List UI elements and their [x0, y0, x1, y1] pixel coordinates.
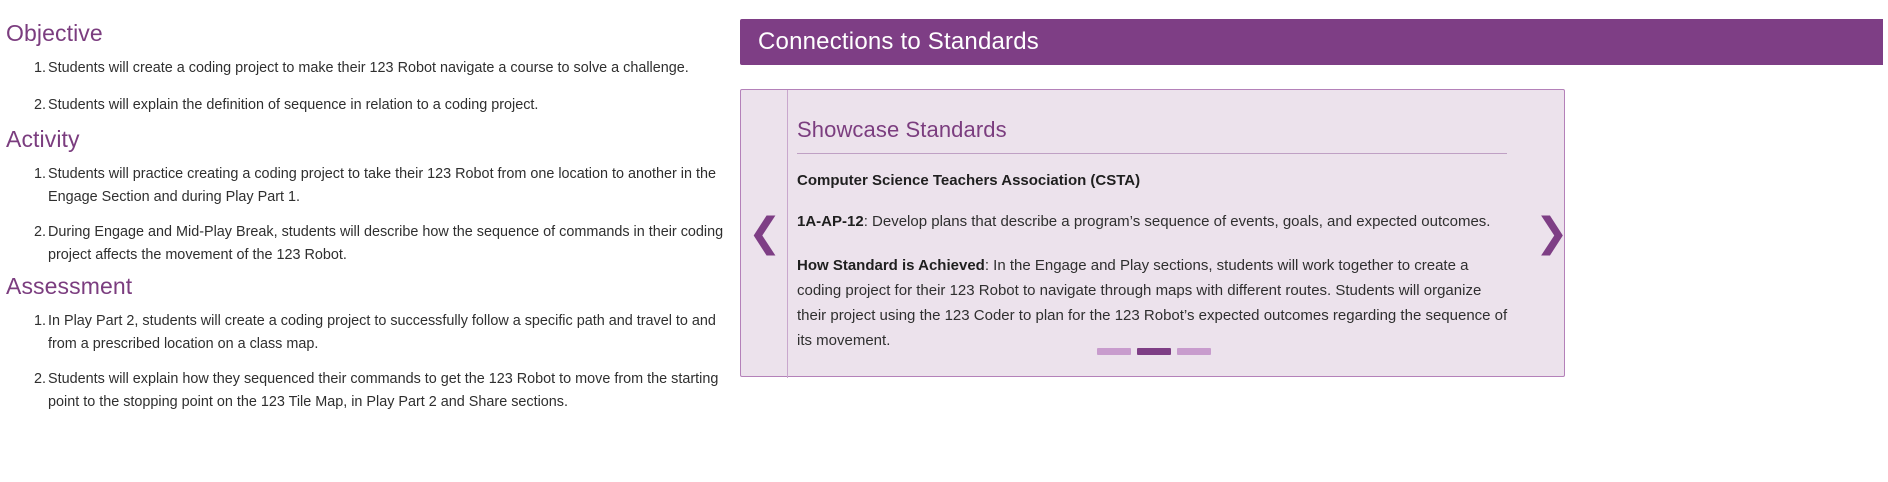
showcase-standards-card: Showcase Standards Computer Science Teac…	[740, 89, 1565, 377]
banner-title: Connections to Standards	[740, 30, 1039, 54]
standards-carousel: Showcase Standards Computer Science Teac…	[740, 89, 1883, 377]
list-item: 2. Students will explain the definition …	[6, 94, 735, 117]
standard-text: Develop plans that describe a program’s …	[872, 213, 1490, 230]
showcase-standards-title: Showcase Standards	[797, 118, 1544, 142]
list-text: Students will create a coding project to…	[48, 60, 689, 76]
list-number: 1.	[24, 57, 46, 80]
banner-edge-strip	[1877, 19, 1883, 65]
chevron-left-icon[interactable]: ❮	[748, 213, 782, 253]
objective-section: Objective 1. Students will create a codi…	[6, 20, 735, 117]
standard-separator: :	[864, 213, 872, 230]
list-number: 2.	[24, 368, 46, 391]
title-underline	[797, 153, 1507, 154]
organization-name: Computer Science Teachers Association (C…	[797, 171, 1544, 191]
list-number: 2.	[24, 94, 46, 117]
list-item: 1. Students will practice creating a cod…	[6, 163, 735, 209]
how-standard-is-achieved: How Standard is Achieved: In the Engage …	[797, 253, 1512, 353]
assessment-list: 1. In Play Part 2, students will create …	[6, 310, 735, 414]
list-text: In Play Part 2, students will create a c…	[48, 313, 716, 352]
list-text: During Engage and Mid-Play Break, studen…	[48, 224, 723, 263]
assessment-heading: Assessment	[6, 273, 735, 299]
list-item: 1. Students will create a coding project…	[6, 57, 735, 80]
objective-heading: Objective	[6, 20, 735, 46]
chevron-right-icon[interactable]: ❯	[1535, 213, 1569, 253]
list-text: Students will practice creating a coding…	[48, 166, 716, 205]
carousel-pagination[interactable]	[741, 348, 1566, 355]
list-number: 1.	[24, 310, 46, 333]
lesson-details-column: Objective 1. Students will create a codi…	[0, 0, 735, 482]
connections-to-standards-banner: Connections to Standards	[740, 19, 1883, 65]
achieved-separator: :	[985, 257, 993, 274]
list-number: 2.	[24, 221, 46, 244]
assessment-section: Assessment 1. In Play Part 2, students w…	[6, 273, 735, 414]
list-text: Students will explain the definition of …	[48, 97, 538, 113]
activity-list: 1. Students will practice creating a cod…	[6, 163, 735, 267]
card-body: Showcase Standards Computer Science Teac…	[797, 90, 1544, 376]
activity-heading: Activity	[6, 126, 735, 152]
card-divider	[787, 90, 788, 378]
objective-list: 1. Students will create a coding project…	[6, 57, 735, 117]
list-item: 1. In Play Part 2, students will create …	[6, 310, 735, 356]
pagination-bar-3[interactable]	[1177, 348, 1211, 355]
pagination-bar-1[interactable]	[1097, 348, 1131, 355]
pagination-bar-2[interactable]	[1137, 348, 1171, 355]
standard-statement: 1A-AP-12: Develop plans that describe a …	[797, 209, 1512, 234]
lesson-plan-page: Objective 1. Students will create a codi…	[0, 0, 1888, 482]
list-item: 2. Students will explain how they sequen…	[6, 368, 735, 414]
list-text: Students will explain how they sequenced…	[48, 371, 718, 410]
activity-section: Activity 1. Students will practice creat…	[6, 126, 735, 267]
list-item: 2. During Engage and Mid-Play Break, stu…	[6, 221, 735, 267]
list-number: 1.	[24, 163, 46, 186]
achieved-label: How Standard is Achieved	[797, 257, 985, 274]
standard-code: 1A-AP-12	[797, 213, 864, 230]
standards-column: Connections to Standards Showcase Standa…	[735, 0, 1888, 482]
